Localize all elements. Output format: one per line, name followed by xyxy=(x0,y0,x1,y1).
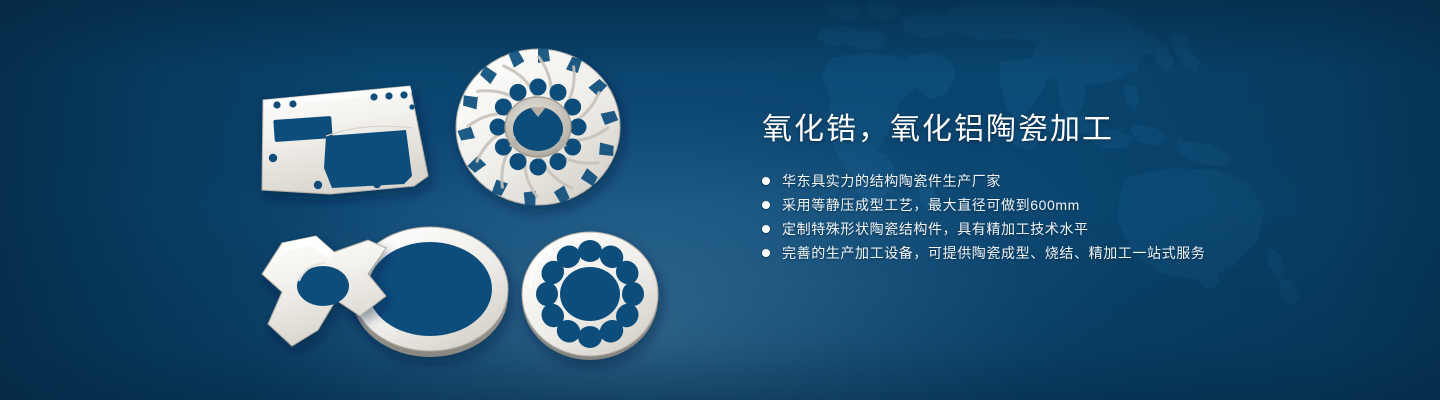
banner-copy: 氧化锆，氧化铝陶瓷加工 华东具实力的结构陶瓷件生产厂家 采用等静压成型工艺，最大… xyxy=(762,112,1382,266)
list-item-label: 完善的生产加工设备，可提供陶瓷成型、烧结、精加工一站式服务 xyxy=(782,242,1205,264)
bullet-dot-icon xyxy=(762,225,770,233)
list-item: 完善的生产加工设备，可提供陶瓷成型、烧结、精加工一站式服务 xyxy=(762,242,1382,264)
bullet-dot-icon xyxy=(762,249,770,257)
list-item: 采用等静压成型工艺，最大直径可做到600mm xyxy=(762,194,1382,216)
ceramic-impeller xyxy=(456,47,620,207)
ceramic-products-image xyxy=(0,0,720,400)
list-item: 华东具实力的结构陶瓷件生产厂家 xyxy=(762,170,1382,192)
list-item-label: 华东具实力的结构陶瓷件生产厂家 xyxy=(782,170,1001,192)
ceramic-perforated-disc xyxy=(522,232,658,360)
list-item-label: 定制特殊形状陶瓷结构件，具有精加工技术水平 xyxy=(782,218,1089,240)
feature-list: 华东具实力的结构陶瓷件生产厂家 采用等静压成型工艺，最大直径可做到600mm 定… xyxy=(762,170,1382,264)
ceramic-machined-plate xyxy=(262,86,428,194)
bullet-dot-icon xyxy=(762,201,770,209)
list-item: 定制特殊形状陶瓷结构件，具有精加工技术水平 xyxy=(762,218,1382,240)
promo-banner: 氧化锆，氧化铝陶瓷加工 华东具实力的结构陶瓷件生产厂家 采用等静压成型工艺，最大… xyxy=(0,0,1440,400)
list-item-label: 采用等静压成型工艺，最大直径可做到600mm xyxy=(782,194,1080,216)
bullet-dot-icon xyxy=(762,177,770,185)
page-title: 氧化锆，氧化铝陶瓷加工 xyxy=(762,112,1382,148)
